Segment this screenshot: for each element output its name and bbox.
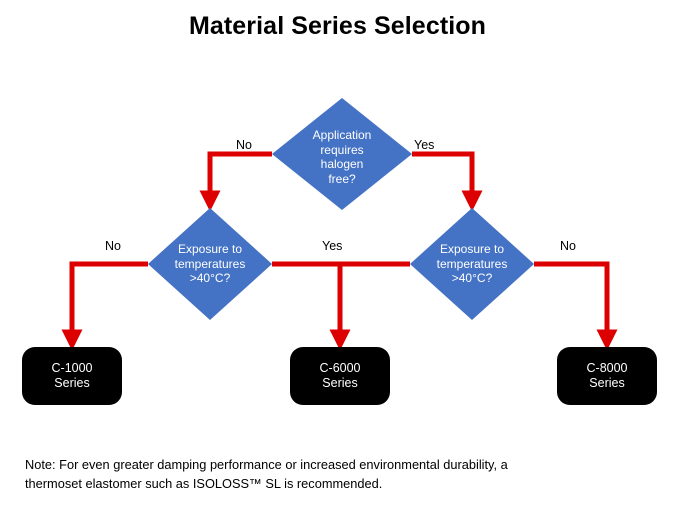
edge-label-left-no: No <box>105 239 121 253</box>
terminal-c1000[interactable]: C-1000 Series <box>22 347 122 405</box>
decision-label: Exposure to temperatures >40°C? <box>420 242 524 286</box>
terminal-c8000[interactable]: C-8000 Series <box>557 347 657 405</box>
decision-label: Exposure to temperatures >40°C? <box>158 242 262 286</box>
edge-label-right-no: No <box>560 239 576 253</box>
terminal-label: C-6000 Series <box>320 361 361 391</box>
terminal-label: C-1000 Series <box>52 361 93 391</box>
connector-layer <box>0 0 675 506</box>
footnote-text: Note: For even greater damping performan… <box>25 455 555 493</box>
edge-halogen-yes <box>412 154 472 201</box>
edge-left-no <box>72 264 148 340</box>
decision-temperature-right[interactable]: Exposure to temperatures >40°C? <box>410 208 534 320</box>
decision-halogen-free[interactable]: Application requires halogen free? <box>272 98 412 210</box>
edge-right-no <box>534 264 607 340</box>
edge-label-halogen-no: No <box>236 138 252 152</box>
decision-label: Application requires halogen free? <box>290 128 394 186</box>
edge-halogen-no <box>210 154 272 201</box>
edge-label-middle-yes: Yes <box>322 239 342 253</box>
flowchart-slide: Material Series Selection Application re… <box>0 0 675 506</box>
terminal-label: C-8000 Series <box>587 361 628 391</box>
edge-label-halogen-yes: Yes <box>414 138 434 152</box>
decision-temperature-left[interactable]: Exposure to temperatures >40°C? <box>148 208 272 320</box>
terminal-c6000[interactable]: C-6000 Series <box>290 347 390 405</box>
